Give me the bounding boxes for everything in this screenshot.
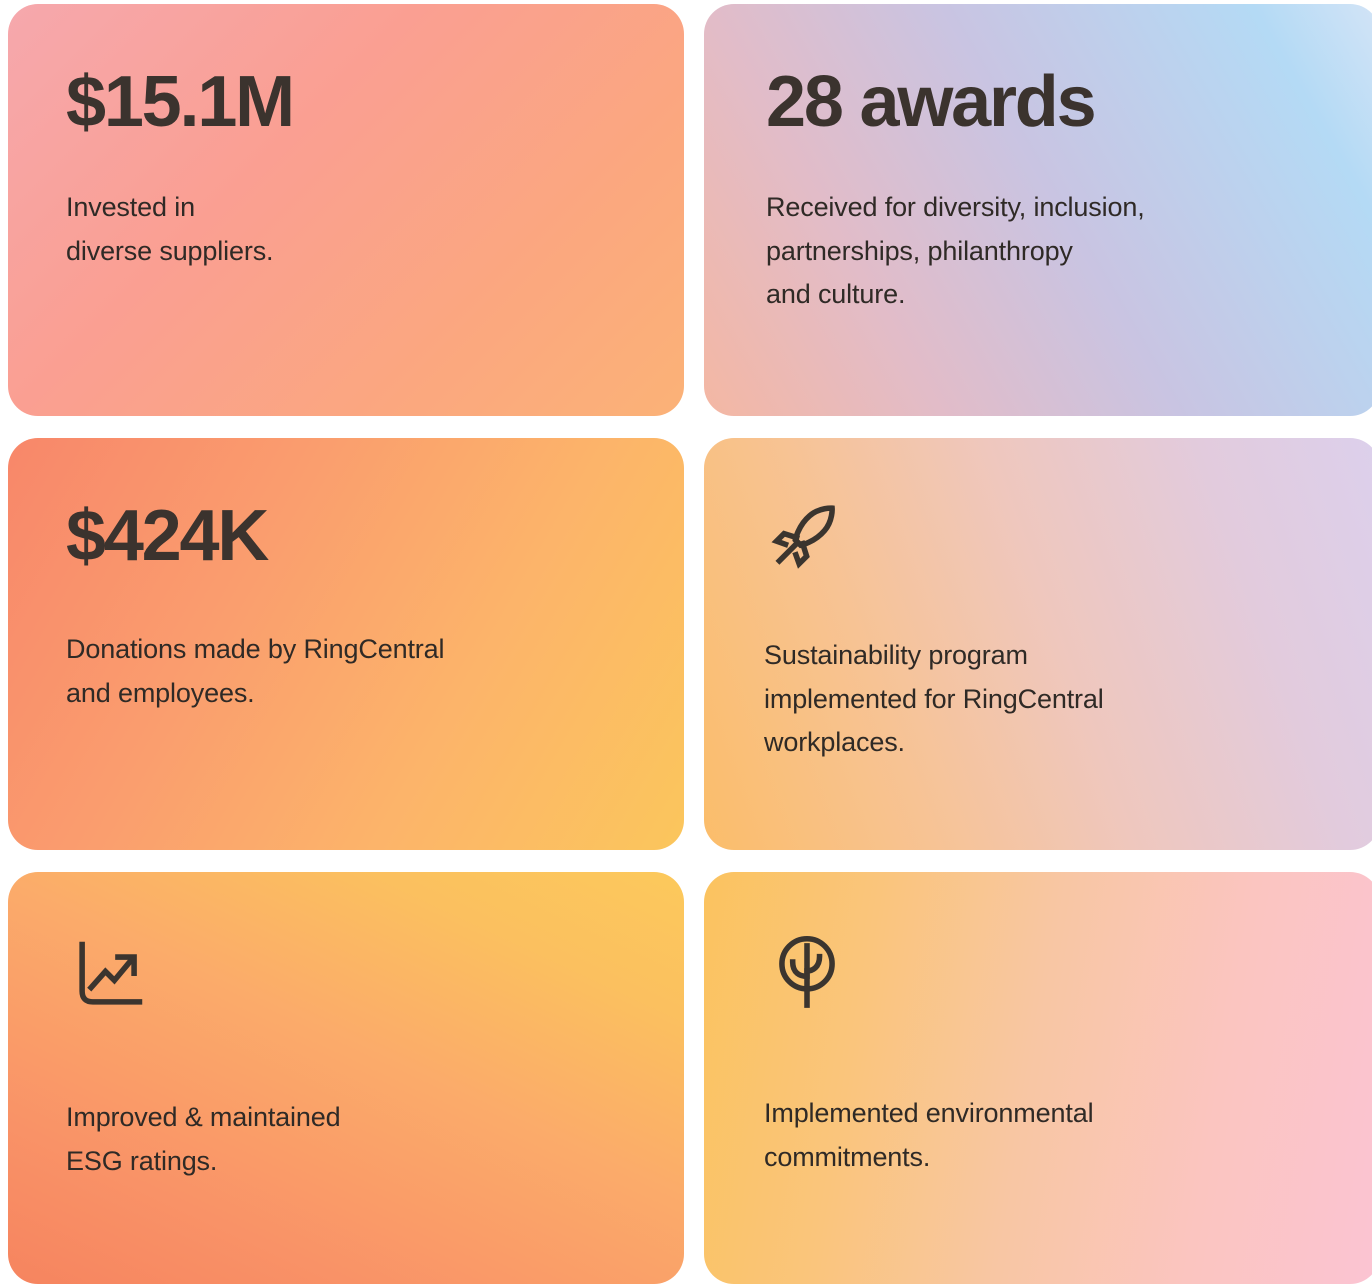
stat-card-invested-diverse-suppliers: $15.1M Invested in diverse suppliers. xyxy=(8,4,684,416)
stat-description: Invested in diverse suppliers. xyxy=(66,186,626,273)
stat-card-donations-made: $424K Donations made by RingCentral and … xyxy=(8,438,684,850)
stat-description: Improved & maintained ESG ratings. xyxy=(66,1096,626,1183)
stat-value: $15.1M xyxy=(66,66,626,138)
stat-description: Received for diversity, inclusion, partn… xyxy=(766,186,1322,317)
stat-value: $424K xyxy=(66,500,626,572)
stat-value: 28 awards xyxy=(766,66,1322,138)
rocket-icon xyxy=(764,496,850,582)
tree-icon xyxy=(764,928,850,1014)
stat-card-sustainability-program: Sustainability program implemented for R… xyxy=(704,438,1372,850)
chart-trend-up-icon xyxy=(66,932,152,1018)
stat-card-esg-ratings: Improved & maintained ESG ratings. xyxy=(8,872,684,1284)
stat-description: Donations made by RingCentral and employ… xyxy=(66,628,626,715)
stat-card-environmental-commitments: Implemented environmental commitments. xyxy=(704,872,1372,1284)
stat-description: Sustainability program implemented for R… xyxy=(764,634,1322,765)
stat-description: Implemented environmental commitments. xyxy=(764,1092,1322,1179)
stats-card-grid: $15.1M Invested in diverse suppliers. 28… xyxy=(0,0,1372,1280)
stat-card-awards-received: 28 awards Received for diversity, inclus… xyxy=(704,4,1372,416)
